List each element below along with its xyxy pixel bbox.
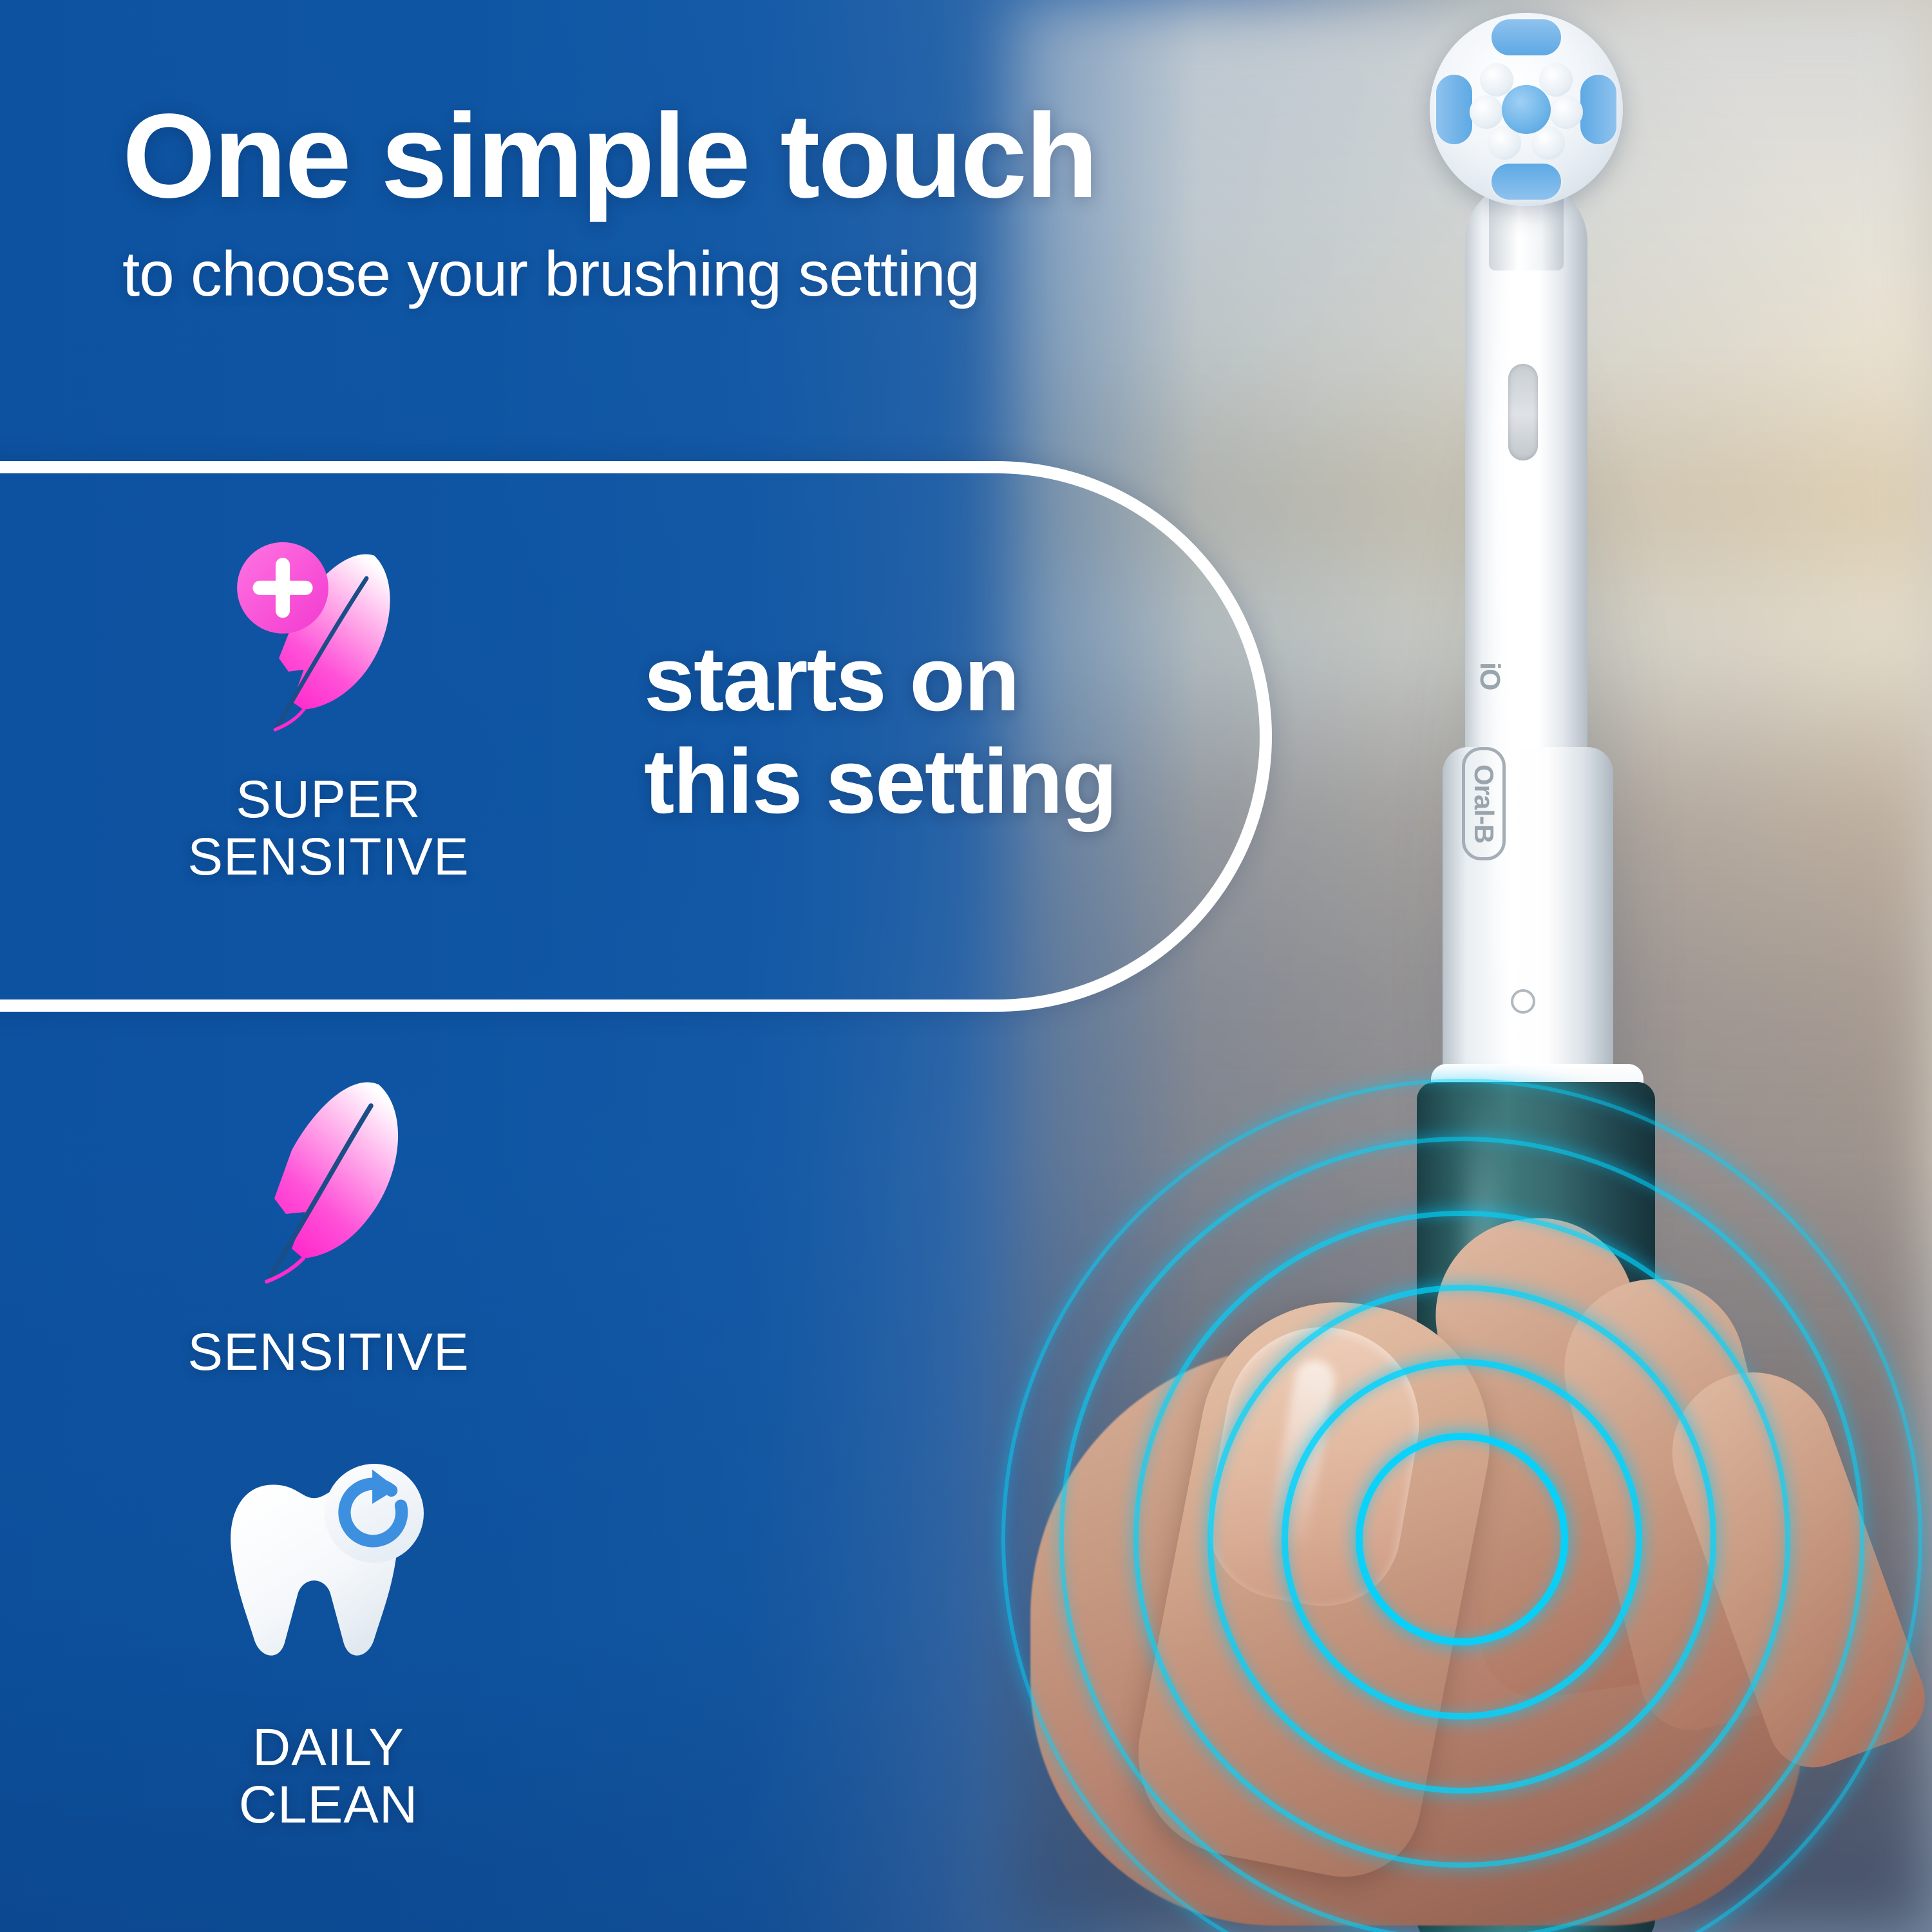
bristle-tuft — [1470, 95, 1503, 129]
headline-primary: One simple touch — [122, 97, 1346, 216]
vibration-rings — [992, 1069, 1932, 1932]
mode-daily-clean[interactable]: DAILY CLEAN — [90, 1462, 567, 1833]
mode-label-line-2: SENSITIVE — [90, 829, 567, 886]
vibration-ring — [1001, 1079, 1922, 1932]
mode-sensitive[interactable]: SENSITIVE — [90, 1069, 567, 1381]
mode-label-line-2: CLEAN — [90, 1777, 567, 1834]
callout-text: starts on this setting — [644, 628, 1116, 833]
mode-super-sensitive[interactable]: SUPER SENSITIVE — [90, 535, 567, 885]
bristle-center-tuft — [1502, 85, 1551, 134]
bristle-tuft — [1539, 63, 1573, 97]
mode-label-daily-clean: DAILY CLEAN — [90, 1719, 567, 1833]
bristle-arc-segment — [1436, 75, 1472, 144]
mode-label-super-sensitive: SUPER SENSITIVE — [90, 772, 567, 885]
brush-neck-highlight — [1493, 200, 1515, 1075]
callout-line-2: this setting — [644, 730, 1116, 833]
oral-b-logo: Oral-B — [1462, 747, 1506, 860]
headline-block: One simple touch to choose your brushing… — [122, 97, 1346, 309]
mode-label-line-1: SENSITIVE — [90, 1324, 567, 1381]
bristle-arc-segment — [1492, 164, 1561, 200]
brush-head-bristles — [1430, 13, 1623, 206]
mode-label-line-1: SUPER — [90, 772, 567, 829]
tooth-refresh-icon — [193, 1462, 464, 1700]
callout-line-1: starts on — [644, 628, 1116, 730]
product-marketing-image: iO Oral-B One simple touch to choose you… — [0, 0, 1932, 1932]
bristle-tuft — [1549, 95, 1583, 129]
bristle-arc-segment — [1492, 19, 1561, 55]
mode-label-sensitive: SENSITIVE — [90, 1324, 567, 1381]
brush-indicator-dot — [1511, 989, 1535, 1014]
headline-secondary: to choose your brushing setting — [122, 240, 1346, 309]
bristle-arc-segment — [1580, 75, 1616, 144]
io-logo: iO — [1473, 662, 1506, 689]
feather-plus-icon — [193, 535, 464, 753]
feather-icon — [193, 1069, 464, 1301]
brush-head-recess — [1508, 364, 1538, 460]
mode-label-line-1: DAILY — [90, 1719, 567, 1777]
